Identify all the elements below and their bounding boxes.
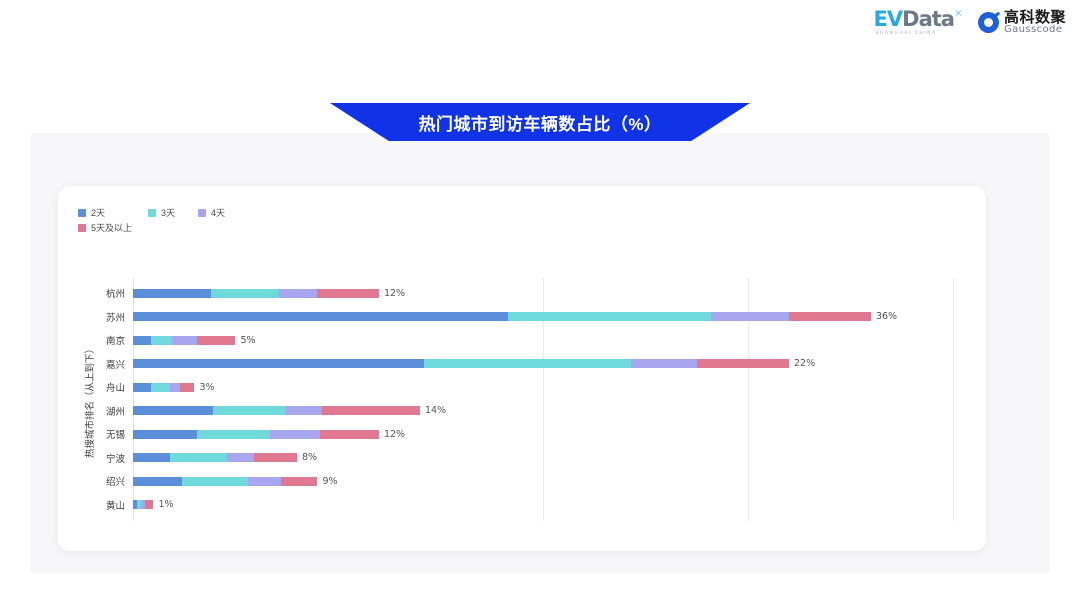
legend-label: 3天 [161, 207, 175, 220]
bar-segment-2 [182, 477, 248, 486]
bar-segment-4 [317, 289, 379, 298]
chart-row[interactable]: 黄山1% [133, 493, 953, 517]
gausscode-logo-cn: 高科数聚 [1004, 10, 1066, 26]
chart-row[interactable]: 湖州14% [133, 399, 953, 423]
bar-segment-2 [170, 453, 227, 462]
chart-legend: 2天3天4天5天及以上 [78, 206, 498, 235]
bar-value-label: 12% [384, 430, 405, 439]
chart-title-ribbon: 热门城市到访车辆数占比（%） [330, 103, 750, 141]
stacked-bar[interactable] [133, 430, 379, 439]
legend-swatch-icon [78, 224, 86, 232]
evdata-logo-ev-text: EV [874, 9, 903, 30]
bar-value-label: 8% [302, 453, 317, 462]
bar-value-label: 36% [876, 312, 897, 321]
chart-bars: 杭州12%苏州36%南京5%嘉兴22%舟山3%湖州14%无锡12%宁波8%绍兴9… [133, 281, 953, 521]
evdata-logo-wordmark: EV Data × [874, 9, 962, 30]
y-axis-tick-label: 嘉兴 [106, 352, 125, 376]
bar-value-label: 1% [158, 500, 173, 509]
stacked-bar[interactable] [133, 359, 789, 368]
evdata-logo-data-text: Data [902, 9, 954, 30]
bar-segment-4 [697, 359, 789, 368]
legend-item-4[interactable]: 5天及以上 [78, 221, 498, 235]
bar-segment-3 [279, 289, 318, 298]
bar-segment-1 [133, 477, 182, 486]
y-axis-tick-label: 舟山 [106, 375, 125, 399]
bar-segment-3 [248, 477, 281, 486]
bar-value-label: 14% [425, 406, 446, 415]
bar-segment-4 [281, 477, 318, 486]
evdata-logo: EV Data × SHANGHAI CHINA [874, 9, 962, 36]
bar-segment-3 [172, 336, 197, 345]
bar-segment-1 [133, 406, 213, 415]
y-axis-tick-label: 湖州 [106, 399, 125, 423]
stacked-bar[interactable] [133, 477, 317, 486]
chart-row[interactable]: 宁波8% [133, 446, 953, 470]
bar-segment-2 [197, 430, 271, 439]
bar-segment-2 [424, 359, 631, 368]
bar-segment-2 [151, 383, 169, 392]
bar-value-label: 3% [199, 383, 214, 392]
bar-value-label: 12% [384, 289, 405, 298]
page-header: EV Data × SHANGHAI CHINA 高科数聚 Gausscode [0, 0, 1080, 56]
legend-item-3[interactable]: 4天 [198, 206, 258, 220]
evdata-x-icon: × [955, 7, 962, 19]
legend-label: 4天 [211, 207, 225, 220]
bar-value-label: 5% [240, 336, 255, 345]
bar-segment-3 [285, 406, 322, 415]
chart-row[interactable]: 无锡12% [133, 422, 953, 446]
bar-value-label: 9% [322, 477, 337, 486]
bar-segment-3 [631, 359, 697, 368]
chart-row[interactable]: 嘉兴22% [133, 352, 953, 376]
gausscode-logo: 高科数聚 Gausscode [978, 10, 1066, 36]
legend-label: 2天 [91, 207, 105, 220]
chart-row[interactable]: 杭州12% [133, 281, 953, 305]
y-axis-tick-label: 绍兴 [106, 469, 125, 493]
bar-segment-4 [197, 336, 236, 345]
bar-segment-1 [133, 336, 151, 345]
y-axis-title-label: 热搜城市排名（从上到下） [82, 344, 96, 458]
bar-segment-2 [211, 289, 279, 298]
gausscode-logo-en: Gausscode [1004, 25, 1066, 36]
chart-plot-area: 热搜城市排名（从上到下） 杭州12%苏州36%南京5%嘉兴22%舟山3%湖州14… [133, 281, 953, 521]
y-axis-tick-label: 宁波 [106, 446, 125, 470]
bar-segment-3 [270, 430, 319, 439]
legend-item-1[interactable]: 2天 [78, 206, 148, 220]
bar-segment-1 [133, 453, 170, 462]
bar-segment-3 [227, 453, 254, 462]
bar-segment-1 [133, 312, 508, 321]
legend-label: 5天及以上 [91, 222, 132, 235]
chart-row[interactable]: 舟山3% [133, 375, 953, 399]
y-axis-tick-label: 黄山 [106, 493, 125, 517]
gridline-40 [953, 278, 954, 521]
bar-segment-2 [508, 312, 711, 321]
legend-swatch-icon [78, 209, 86, 217]
stacked-bar[interactable] [133, 500, 153, 509]
y-axis-tick-label: 无锡 [106, 422, 125, 446]
stacked-bar[interactable] [133, 453, 297, 462]
stacked-bar[interactable] [133, 406, 420, 415]
y-axis-tick-label: 杭州 [106, 281, 125, 305]
bar-segment-4 [180, 383, 194, 392]
bar-segment-1 [133, 359, 424, 368]
chart-row[interactable]: 绍兴9% [133, 469, 953, 493]
legend-swatch-icon [148, 209, 156, 217]
logo-group: EV Data × SHANGHAI CHINA 高科数聚 Gausscode [874, 9, 1066, 36]
legend-swatch-icon [198, 209, 206, 217]
bar-segment-4 [320, 430, 379, 439]
bar-segment-4 [789, 312, 871, 321]
bar-segment-2 [151, 336, 172, 345]
gausscode-logo-text: 高科数聚 Gausscode [1004, 10, 1066, 36]
stacked-bar[interactable] [133, 312, 871, 321]
bar-segment-3 [170, 383, 180, 392]
y-axis-tick-label: 苏州 [106, 305, 125, 329]
bar-value-label: 22% [794, 359, 815, 368]
bar-segment-4 [254, 453, 297, 462]
bar-segment-3 [711, 312, 789, 321]
stacked-bar[interactable] [133, 383, 194, 392]
stacked-bar[interactable] [133, 289, 379, 298]
y-axis-title: 热搜城市排名（从上到下） [82, 281, 96, 521]
legend-item-2[interactable]: 3天 [148, 206, 198, 220]
bar-segment-1 [133, 430, 197, 439]
bar-segment-4 [322, 406, 420, 415]
bar-segment-4 [145, 500, 153, 509]
bar-segment-1 [133, 383, 151, 392]
bar-segment-1 [133, 289, 211, 298]
gausscode-mark-icon [978, 12, 999, 33]
evdata-logo-subtitle: SHANGHAI CHINA [876, 32, 937, 36]
stacked-bar[interactable] [133, 336, 235, 345]
bar-segment-2 [213, 406, 285, 415]
chart-card: 2天3天4天5天及以上 热搜城市排名（从上到下） 杭州12%苏州36%南京5%嘉… [58, 186, 986, 551]
y-axis-tick-label: 南京 [106, 328, 125, 352]
chart-row[interactable]: 苏州36% [133, 305, 953, 329]
chart-row[interactable]: 南京5% [133, 328, 953, 352]
